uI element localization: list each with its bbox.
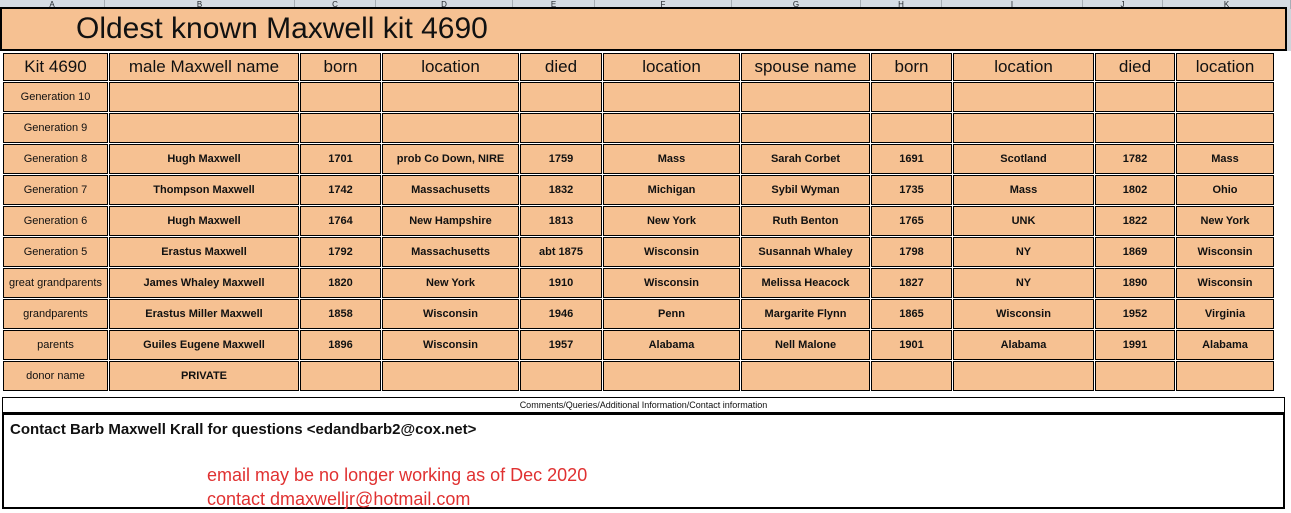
cell-spouse-name[interactable]: Margarite Flynn <box>741 299 870 329</box>
cell-male-born[interactable]: 1858 <box>300 299 381 329</box>
cell-male-born-location[interactable] <box>382 82 519 112</box>
table-row: great grandparentsJames Whaley Maxwell18… <box>3 268 1274 298</box>
cell-male-born-location[interactable]: New York <box>382 268 519 298</box>
cell-male-died[interactable]: 1946 <box>520 299 602 329</box>
cell-male-name[interactable]: Thompson Maxwell <box>109 175 299 205</box>
row-label-cell[interactable]: donor name <box>3 361 108 391</box>
cell-spouse-name[interactable]: Sarah Corbet <box>741 144 870 174</box>
column-header-spouse-died[interactable]: died <box>1095 53 1175 81</box>
cell-male-died[interactable]: 1910 <box>520 268 602 298</box>
row-label-cell[interactable]: Generation 5 <box>3 237 108 267</box>
cell-male-name[interactable]: Guiles Eugene Maxwell <box>109 330 299 360</box>
cell-male-born-location[interactable]: Massachusetts <box>382 237 519 267</box>
cell-male-born[interactable] <box>300 113 381 143</box>
cell-male-born[interactable]: 1764 <box>300 206 381 236</box>
cell-spouse-born[interactable] <box>871 113 952 143</box>
contact-line: Contact Barb Maxwell Krall for questions… <box>10 421 476 438</box>
cell-male-born-location[interactable]: Wisconsin <box>382 299 519 329</box>
cell-spouse-died[interactable] <box>1095 113 1175 143</box>
cell-spouse-died[interactable]: 1782 <box>1095 144 1175 174</box>
cell-spouse-born[interactable]: 1765 <box>871 206 952 236</box>
table-header-row: Kit 4690 male Maxwell name born location… <box>3 53 1274 81</box>
cell-male-died[interactable]: 1832 <box>520 175 602 205</box>
title-cell-extension <box>610 7 1287 51</box>
page-title: Oldest known Maxwell kit 4690 <box>76 12 488 46</box>
cell-spouse-born[interactable]: 1901 <box>871 330 952 360</box>
cell-spouse-born-location[interactable] <box>953 361 1094 391</box>
cell-male-died-location[interactable]: Michigan <box>603 175 740 205</box>
cell-spouse-born-location[interactable]: Mass <box>953 175 1094 205</box>
cell-spouse-born-location[interactable]: NY <box>953 237 1094 267</box>
cell-spouse-died-location[interactable]: Ohio <box>1176 175 1274 205</box>
cell-spouse-born[interactable]: 1691 <box>871 144 952 174</box>
cell-spouse-died[interactable]: 1869 <box>1095 237 1175 267</box>
spreadsheet-view: ABCDEFGHIJK Oldest known Maxwell kit 469… <box>0 0 1291 513</box>
cell-spouse-born-location[interactable]: Scotland <box>953 144 1094 174</box>
table-row: Generation 7Thompson Maxwell1742Massachu… <box>3 175 1274 205</box>
row-label-cell[interactable]: Generation 10 <box>3 82 108 112</box>
cell-male-name[interactable]: Erastus Maxwell <box>109 237 299 267</box>
cell-spouse-born[interactable] <box>871 82 952 112</box>
cell-male-died[interactable] <box>520 113 602 143</box>
cell-spouse-name[interactable] <box>741 82 870 112</box>
cell-male-died[interactable] <box>520 361 602 391</box>
cell-spouse-born[interactable]: 1735 <box>871 175 952 205</box>
cell-spouse-born-location[interactable]: Wisconsin <box>953 299 1094 329</box>
cell-male-born-location[interactable]: Massachusetts <box>382 175 519 205</box>
table-row: Generation 9 <box>3 113 1274 143</box>
cell-male-died-location[interactable]: Wisconsin <box>603 237 740 267</box>
column-header-male-name[interactable]: male Maxwell name <box>109 53 299 81</box>
column-header-spouse-name[interactable]: spouse name <box>741 53 870 81</box>
cell-male-born[interactable]: 1896 <box>300 330 381 360</box>
cell-spouse-died-location[interactable] <box>1176 82 1274 112</box>
red-note-line-1: email may be no longer working as of Dec… <box>207 463 587 487</box>
cell-male-died-location[interactable]: Mass <box>603 144 740 174</box>
cell-male-died[interactable]: 1759 <box>520 144 602 174</box>
cell-spouse-died[interactable] <box>1095 361 1175 391</box>
cell-spouse-died[interactable]: 1952 <box>1095 299 1175 329</box>
column-header-kit[interactable]: Kit 4690 <box>3 53 108 81</box>
cell-spouse-died-location[interactable] <box>1176 113 1274 143</box>
cell-male-died-location[interactable]: New York <box>603 206 740 236</box>
row-label-cell[interactable]: Generation 6 <box>3 206 108 236</box>
cell-spouse-died-location[interactable] <box>1176 361 1274 391</box>
cell-spouse-died-location[interactable]: Alabama <box>1176 330 1274 360</box>
row-label-cell[interactable]: Generation 7 <box>3 175 108 205</box>
cell-spouse-died[interactable]: 1802 <box>1095 175 1175 205</box>
row-label-cell[interactable]: Generation 8 <box>3 144 108 174</box>
cell-male-died[interactable] <box>520 82 602 112</box>
cell-male-born[interactable] <box>300 361 381 391</box>
cell-male-born[interactable]: 1742 <box>300 175 381 205</box>
table-row: Generation 6Hugh Maxwell1764New Hampshir… <box>3 206 1274 236</box>
cell-male-died[interactable]: 1813 <box>520 206 602 236</box>
column-header-spouse-died-loc[interactable]: location <box>1176 53 1274 81</box>
cell-spouse-name[interactable]: Nell Malone <box>741 330 870 360</box>
cell-male-born[interactable]: 1792 <box>300 237 381 267</box>
cell-spouse-born[interactable]: 1798 <box>871 237 952 267</box>
cell-male-name[interactable]: James Whaley Maxwell <box>109 268 299 298</box>
cell-male-died-location[interactable]: Wisconsin <box>603 268 740 298</box>
cell-spouse-born-location[interactable]: UNK <box>953 206 1094 236</box>
cell-male-died[interactable]: 1957 <box>520 330 602 360</box>
contact-notes-box[interactable]: Contact Barb Maxwell Krall for questions… <box>2 413 1285 509</box>
table-row: donor namePRIVATE <box>3 361 1274 391</box>
cell-spouse-born[interactable]: 1865 <box>871 299 952 329</box>
row-label-cell[interactable]: great grandparents <box>3 268 108 298</box>
cell-spouse-died[interactable]: 1991 <box>1095 330 1175 360</box>
cell-spouse-name[interactable]: Melissa Heacock <box>741 268 870 298</box>
row-label-cell[interactable]: parents <box>3 330 108 360</box>
cell-male-died-location[interactable] <box>603 113 740 143</box>
cell-spouse-born[interactable]: 1827 <box>871 268 952 298</box>
cell-spouse-name[interactable]: Susannah Whaley <box>741 237 870 267</box>
cell-spouse-died[interactable]: 1890 <box>1095 268 1175 298</box>
red-note-block: email may be no longer working as of Dec… <box>207 463 587 511</box>
cell-male-died[interactable]: abt 1875 <box>520 237 602 267</box>
cell-spouse-died-location[interactable]: Virginia <box>1176 299 1274 329</box>
cell-male-name[interactable]: Hugh Maxwell <box>109 144 299 174</box>
column-header-male-born[interactable]: born <box>300 53 381 81</box>
cell-spouse-died-location[interactable]: New York <box>1176 206 1274 236</box>
table-row: grandparentsErastus Miller Maxwell1858Wi… <box>3 299 1274 329</box>
column-header-male-born-loc[interactable]: location <box>382 53 519 81</box>
table-row: Generation 5Erastus Maxwell1792Massachus… <box>3 237 1274 267</box>
cell-spouse-died-location[interactable]: Mass <box>1176 144 1274 174</box>
cell-spouse-born-location[interactable] <box>953 113 1094 143</box>
comments-header-label: Comments/Queries/Additional Information/… <box>520 400 768 410</box>
cell-spouse-died-location[interactable]: Wisconsin <box>1176 268 1274 298</box>
column-header-spouse-born-loc[interactable]: location <box>953 53 1094 81</box>
cell-male-died-location[interactable] <box>603 361 740 391</box>
table-row: parentsGuiles Eugene Maxwell1896Wisconsi… <box>3 330 1274 360</box>
cell-spouse-died[interactable] <box>1095 82 1175 112</box>
cell-male-died-location[interactable]: Penn <box>603 299 740 329</box>
column-header-male-died-loc[interactable]: location <box>603 53 740 81</box>
cell-male-born-location[interactable]: prob Co Down, NIRE <box>382 144 519 174</box>
cell-spouse-born-location[interactable]: NY <box>953 268 1094 298</box>
table-row: Generation 8Hugh Maxwell1701prob Co Down… <box>3 144 1274 174</box>
cell-male-born-location[interactable]: Wisconsin <box>382 330 519 360</box>
cell-spouse-born[interactable] <box>871 361 952 391</box>
column-header-male-died[interactable]: died <box>520 53 602 81</box>
table-row: Generation 10 <box>3 82 1274 112</box>
column-header-spouse-born[interactable]: born <box>871 53 952 81</box>
cell-male-born-location[interactable]: New Hampshire <box>382 206 519 236</box>
cell-male-name[interactable]: PRIVATE <box>109 361 299 391</box>
cell-male-born-location[interactable] <box>382 361 519 391</box>
cell-spouse-born-location[interactable]: Alabama <box>953 330 1094 360</box>
cell-male-died-location[interactable]: Alabama <box>603 330 740 360</box>
cell-spouse-name[interactable]: Ruth Benton <box>741 206 870 236</box>
comments-header-strip[interactable]: Comments/Queries/Additional Information/… <box>2 397 1285 413</box>
cell-spouse-born-location[interactable] <box>953 82 1094 112</box>
cell-male-born[interactable]: 1701 <box>300 144 381 174</box>
cell-male-born-location[interactable] <box>382 113 519 143</box>
table-body: Generation 10Generation 9Generation 8Hug… <box>3 82 1274 391</box>
row-label-cell[interactable]: Generation 9 <box>3 113 108 143</box>
cell-male-name[interactable]: Hugh Maxwell <box>109 206 299 236</box>
red-note-line-2: contact dmaxwelljr@hotmail.com <box>207 487 587 511</box>
cell-spouse-died-location[interactable]: Wisconsin <box>1176 237 1274 267</box>
cell-male-name[interactable] <box>109 113 299 143</box>
cell-spouse-name[interactable]: Sybil Wyman <box>741 175 870 205</box>
cell-male-born[interactable] <box>300 82 381 112</box>
cell-spouse-died[interactable]: 1822 <box>1095 206 1175 236</box>
genealogy-table: Kit 4690 male Maxwell name born location… <box>2 52 1275 392</box>
row-label-cell[interactable]: grandparents <box>3 299 108 329</box>
cell-male-died-location[interactable] <box>603 82 740 112</box>
cell-male-born[interactable]: 1820 <box>300 268 381 298</box>
cell-male-name[interactable]: Erastus Miller Maxwell <box>109 299 299 329</box>
cell-male-name[interactable] <box>109 82 299 112</box>
cell-spouse-name[interactable] <box>741 361 870 391</box>
cell-spouse-name[interactable] <box>741 113 870 143</box>
